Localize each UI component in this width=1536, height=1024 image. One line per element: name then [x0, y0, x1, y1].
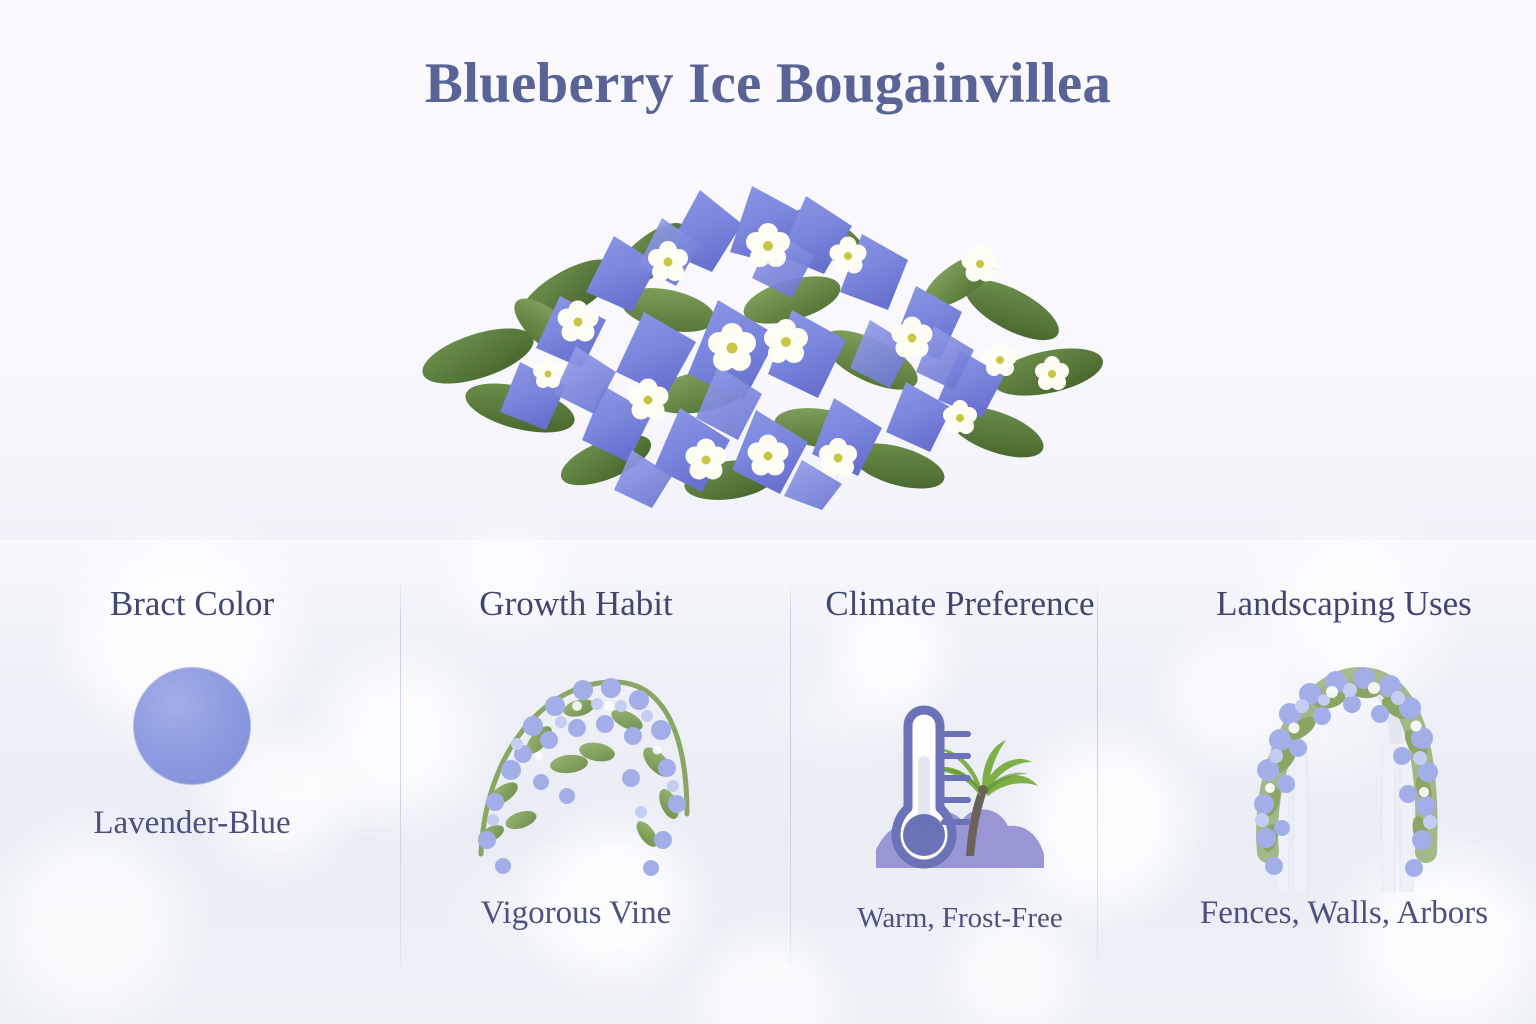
- flowered-arbor-arch-icon: [1152, 652, 1536, 892]
- color-swatch-circle-icon: [0, 656, 384, 796]
- thermometer-ticks: [944, 734, 968, 822]
- bougainvillea-bloom-cluster-icon: [400, 160, 1120, 510]
- thermometer-palm-island-icon: [768, 704, 1152, 884]
- vine-arch-svg: [451, 644, 701, 884]
- cascading-vine-arch-icon: [384, 644, 768, 884]
- column-header-bract-color: Bract Color: [0, 582, 384, 626]
- climate-icon-svg: [870, 704, 1050, 884]
- column-caption-growth-habit: Vigorous Vine: [384, 892, 768, 935]
- infographic-poster: Blueberry Ice Bougainvillea: [0, 0, 1536, 1024]
- column-header-climate-preference: Climate Preference: [768, 582, 1152, 626]
- column-bract-color[interactable]: Bract Color Lavender-Blue: [0, 540, 384, 1024]
- column-caption-bract-color: Lavender-Blue: [0, 802, 384, 845]
- page-title: Blueberry Ice Bougainvillea: [0, 54, 1536, 114]
- attributes-columns: Bract Color Lavender-Blue Growth Habit: [0, 540, 1536, 1024]
- column-header-landscaping-uses: Landscaping Uses: [1152, 582, 1536, 626]
- arbor-arch-svg: [1224, 652, 1464, 892]
- column-caption-climate-preference: Warm, Frost-Free: [768, 900, 1152, 938]
- hero-image: [400, 160, 1120, 510]
- column-climate-preference[interactable]: Climate Preference: [768, 540, 1152, 1024]
- column-caption-landscaping-uses: Fences, Walls, Arbors: [1152, 892, 1536, 935]
- column-growth-habit[interactable]: Growth Habit: [384, 540, 768, 1024]
- column-landscaping-uses[interactable]: Landscaping Uses: [1152, 540, 1536, 1024]
- bract-color-swatch: [133, 667, 251, 785]
- column-header-growth-habit: Growth Habit: [384, 582, 768, 626]
